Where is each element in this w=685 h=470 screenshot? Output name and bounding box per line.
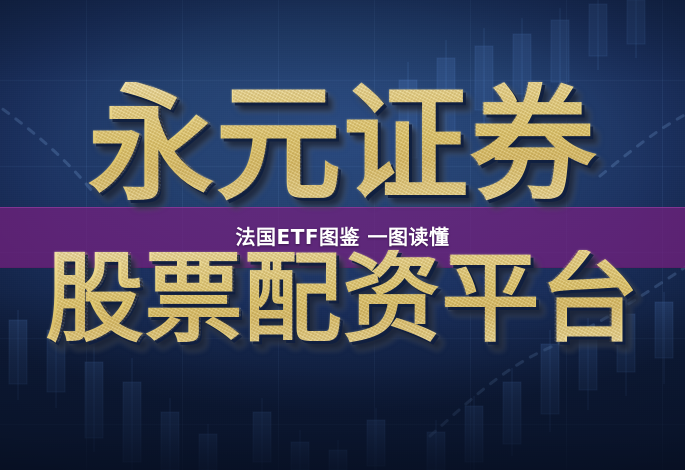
brand-name-text: 永元证券 [0, 82, 685, 208]
promo-banner: 永元证券 永元证券 股票配资平台 股票配资平台 法国ETF图鉴 一图读懂 [0, 0, 685, 470]
service-name-text: 股票配资平台 [0, 250, 685, 348]
headline-text: 法国ETF图鉴 一图读懂 [0, 224, 685, 250]
